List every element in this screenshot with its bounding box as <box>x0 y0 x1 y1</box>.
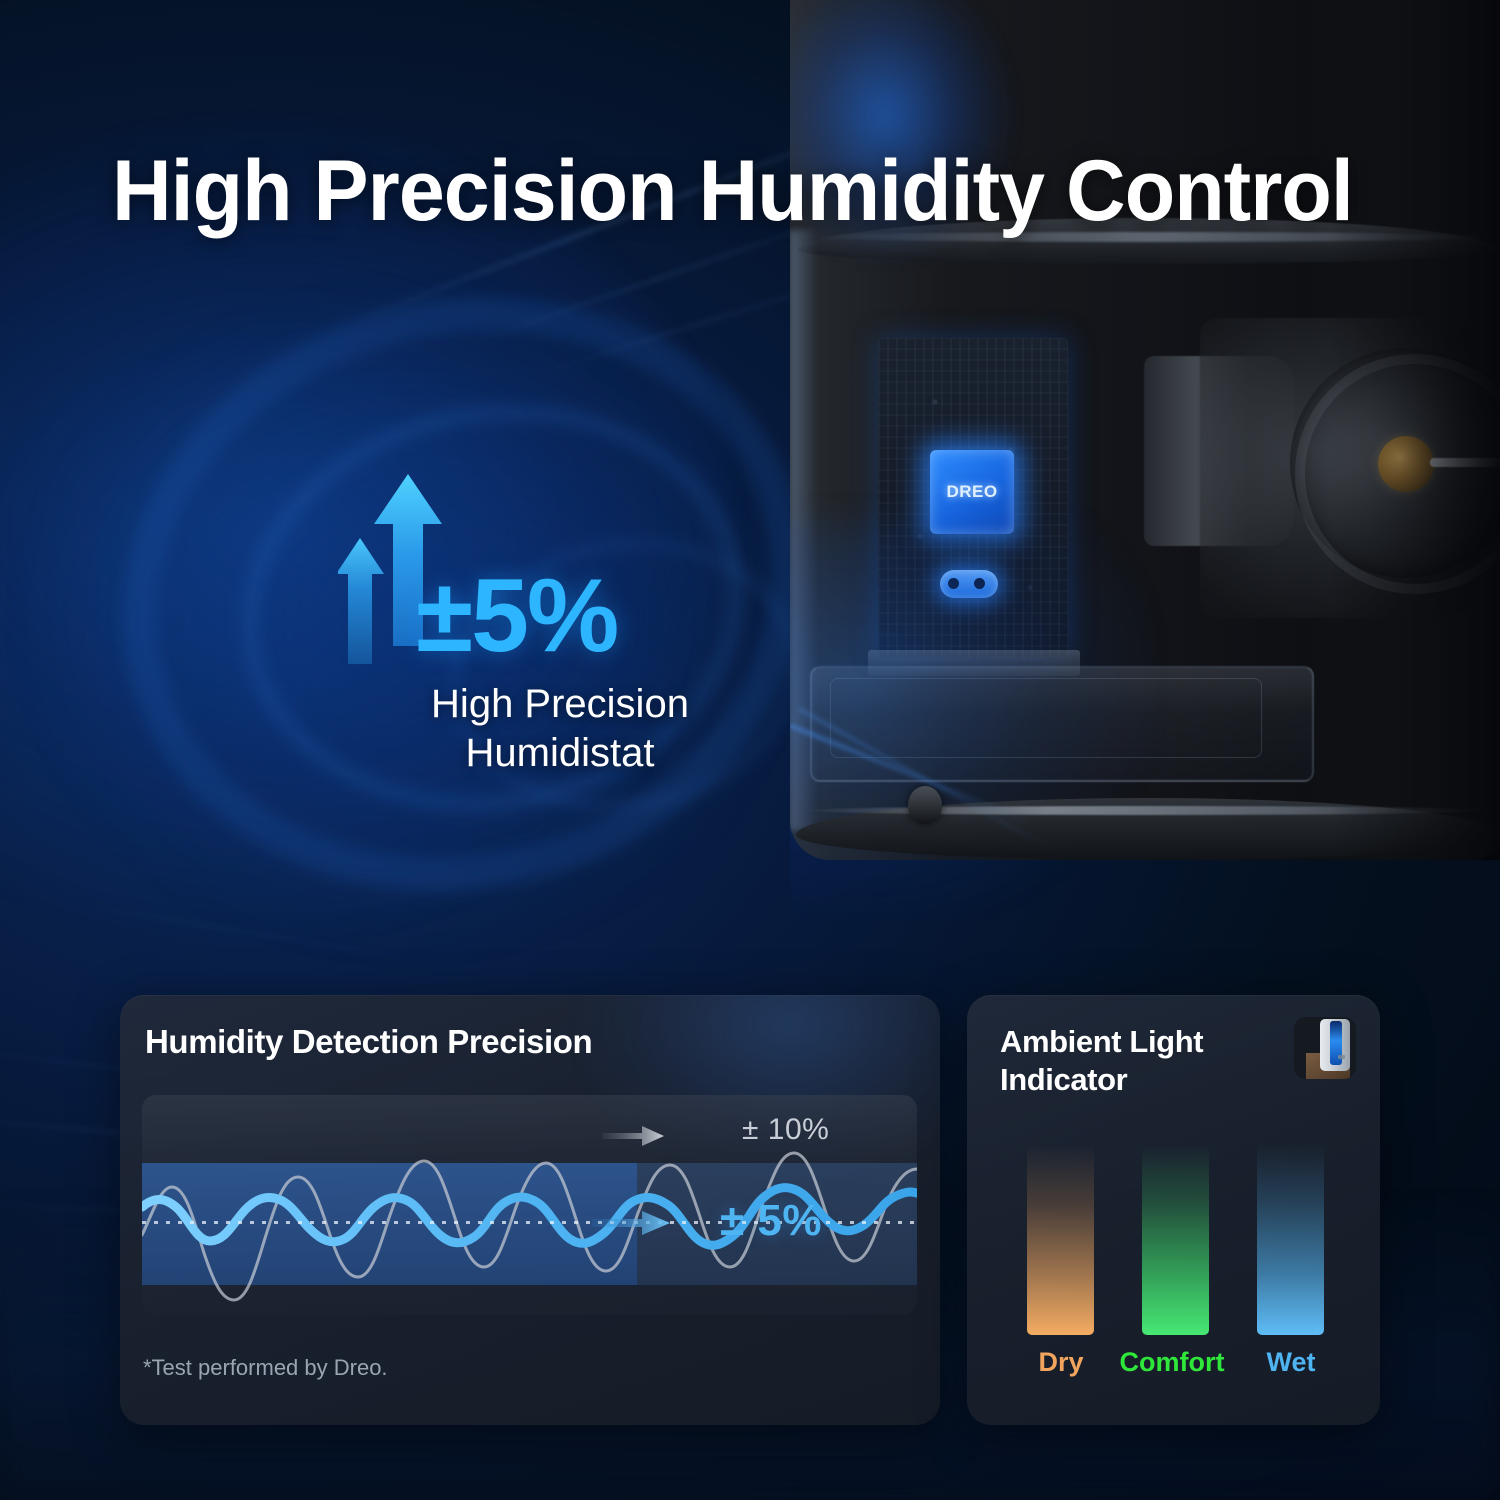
card-title: Ambient Light Indicator <box>1000 1023 1300 1099</box>
product-right-shadow <box>1330 0 1500 860</box>
precision-subtitle: High Precision Humidistat <box>410 680 710 778</box>
page-title: High Precision Humidity Control <box>112 148 1360 234</box>
card-title-line1: Ambient Light <box>1000 1023 1300 1061</box>
precision-subtitle-line1: High Precision <box>410 680 710 729</box>
arrow-right-icon <box>602 1125 664 1147</box>
ambient-label-comfort: Comfort <box>1112 1347 1232 1378</box>
product-knob <box>908 786 942 824</box>
card-title: Humidity Detection Precision <box>145 1023 592 1061</box>
ambient-bar-dry <box>1027 1145 1094 1335</box>
marketing-banner: DREO High Precision Humidity Control <box>0 0 1500 1500</box>
ambient-label-dry: Dry <box>1001 1347 1121 1378</box>
product-cutaway-image: DREO <box>790 0 1500 920</box>
arrow-right-icon <box>592 1210 670 1236</box>
ambient-bar-labels: Dry Comfort Wet <box>967 1347 1380 1387</box>
precision-value: ±5% <box>416 564 617 668</box>
card-title-line2: Indicator <box>1000 1061 1300 1099</box>
baseline-precision-label: ± 10% <box>742 1113 829 1147</box>
ambient-light-bars <box>967 1145 1380 1345</box>
ambient-bar-wet <box>1257 1145 1324 1335</box>
ambient-light-indicator-card: Ambient Light Indicator <box>967 995 1380 1425</box>
blue-ambient-spill <box>790 520 1150 920</box>
precision-badge: ±5% High Precision Humidistat <box>338 468 718 788</box>
product-thumbnail <box>1294 1017 1356 1079</box>
target-precision-label: ± 5% <box>720 1196 822 1246</box>
card-footnote: *Test performed by Dreo. <box>143 1355 388 1381</box>
chip-label: DREO <box>946 482 997 502</box>
ambient-bar-comfort <box>1142 1145 1209 1335</box>
ambient-label-wet: Wet <box>1231 1347 1351 1378</box>
product-thumbnail-image <box>1294 1017 1356 1079</box>
humidity-detection-precision-card: Humidity Detection Precision <box>120 995 940 1425</box>
precision-subtitle-line2: Humidistat <box>410 729 710 778</box>
precision-chart: ± 10% ± 5% <box>142 1095 917 1315</box>
